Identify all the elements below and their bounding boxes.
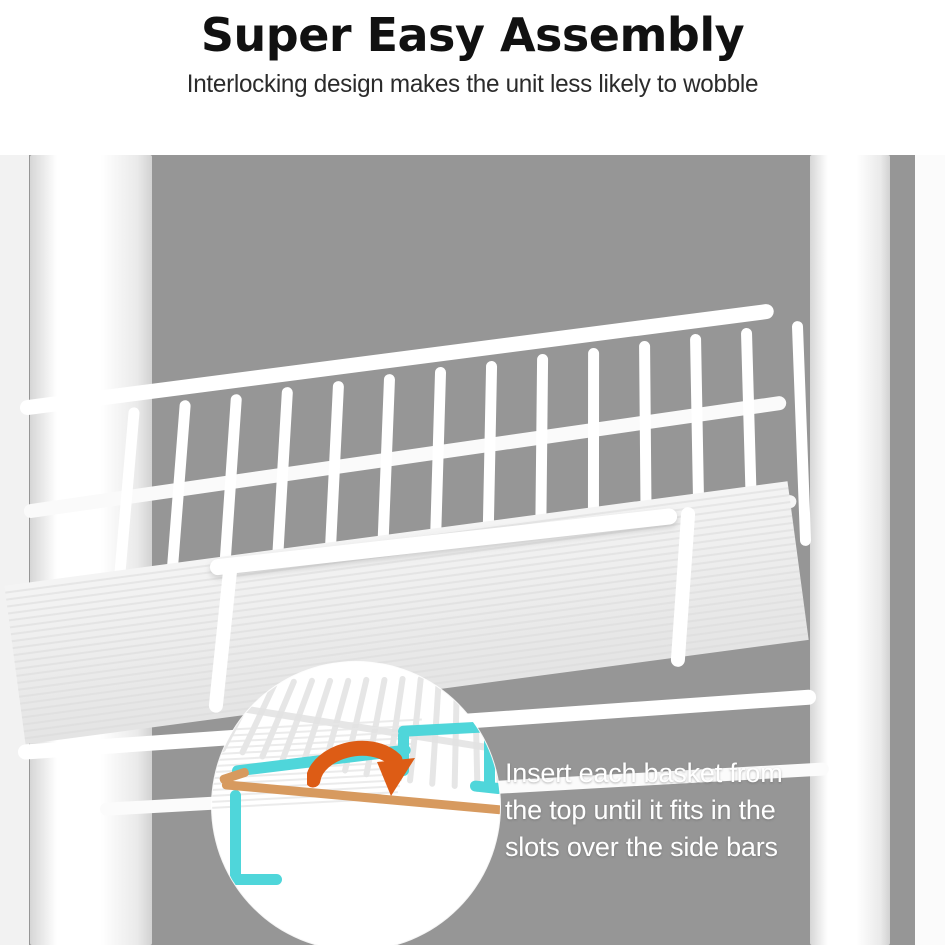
wire-basket	[0, 155, 945, 715]
basket-edge-highlight-1	[230, 790, 241, 882]
product-photo: Insert each basket from the top until it…	[0, 155, 945, 945]
caption-line-3: slots over the side bars	[505, 829, 825, 866]
magnified-assembly-detail	[212, 662, 500, 945]
caption-line-2: the top until it fits in the	[505, 792, 825, 829]
basket-edge-highlight-2	[230, 874, 282, 885]
page-subtitle: Interlocking design makes the unit less …	[14, 68, 931, 100]
basket-rib	[792, 321, 811, 546]
insert-direction-arrow	[307, 734, 437, 844]
basket-edge-highlight-7	[469, 780, 500, 794]
header-block: Super Easy Assembly Interlocking design …	[0, 0, 945, 155]
curved-arrow-icon	[307, 734, 437, 844]
basket-top-rail	[19, 303, 775, 416]
product-feature-image: Super Easy Assembly Interlocking design …	[0, 0, 945, 945]
basket-edge-highlight-6	[484, 728, 495, 788]
page-title: Super Easy Assembly	[0, 8, 945, 62]
instruction-caption: Insert each basket from the top until it…	[505, 755, 825, 866]
caption-line-1: Insert each basket from	[505, 755, 825, 792]
